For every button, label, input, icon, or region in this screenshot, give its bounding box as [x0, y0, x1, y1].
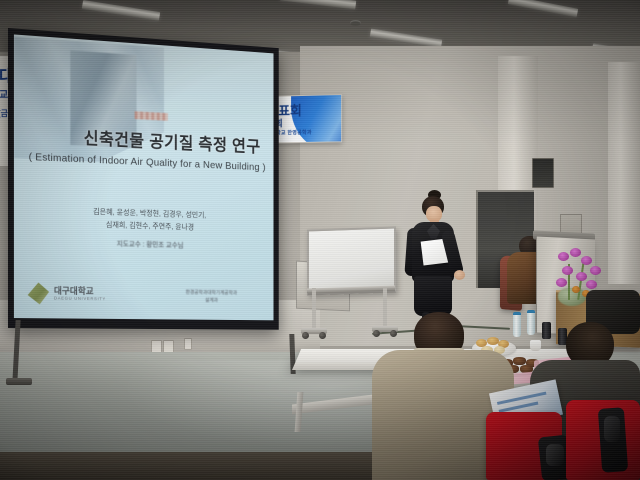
logo-english-name: DAEGU UNIVERSITY	[54, 295, 106, 302]
whiteboard-post	[312, 288, 316, 330]
orchid-petal	[556, 278, 567, 287]
smoke-detector-icon	[350, 20, 361, 26]
wall-pillar	[608, 62, 640, 284]
orchid-petal	[576, 272, 587, 281]
whiteboard-caster-icon	[319, 332, 326, 339]
orchid-petal	[570, 248, 581, 257]
presenter-skirt	[414, 276, 452, 316]
orchid-petal	[572, 286, 580, 293]
projection-screen-assembly: 신축건물 공기질 측정 연구 ( Estimation of Indoor Ai…	[8, 28, 308, 358]
slide-org-line2: 설계과	[157, 296, 265, 305]
orchid-petal	[558, 252, 569, 261]
projection-screen-frame: 신축건물 공기질 측정 연구 ( Estimation of Indoor Ai…	[8, 28, 279, 330]
university-logo-icon	[28, 282, 49, 304]
seat-highlight	[604, 416, 620, 442]
orchid-petal	[590, 266, 601, 275]
slide-authors: 김은혜, 윤성운, 박정현, 김경우, 성민기, 심재희, 김현수, 주연주, …	[34, 203, 262, 235]
slide-university-logo: 대구대학교 DAEGU UNIVERSITY	[28, 282, 106, 305]
slide-advisor: 지도교수 : 황민조 교수님	[34, 237, 262, 253]
screen-stand-base	[6, 378, 32, 385]
photograph-lecture-hall: 대 교 · (금) 발표회 표회 구대학교 한영공학과 신축건물 공기질 측정 …	[0, 0, 640, 480]
orchid-petal	[562, 266, 573, 275]
whiteboard-caster-icon	[302, 332, 309, 339]
projected-slide: 신축건물 공기질 측정 연구 ( Estimation of Indoor Ai…	[14, 34, 274, 320]
presenter-hand	[454, 270, 465, 280]
wall-speaker-icon	[532, 158, 554, 188]
logo-korean-name: 대구대학교	[54, 286, 106, 296]
booklet-line	[497, 392, 547, 405]
orchid-petal	[586, 280, 597, 289]
seat-highlight	[546, 444, 564, 466]
orchid-petal	[581, 256, 592, 265]
slide-organization: 환경공학과대학기계공학과 설계과	[157, 288, 265, 305]
